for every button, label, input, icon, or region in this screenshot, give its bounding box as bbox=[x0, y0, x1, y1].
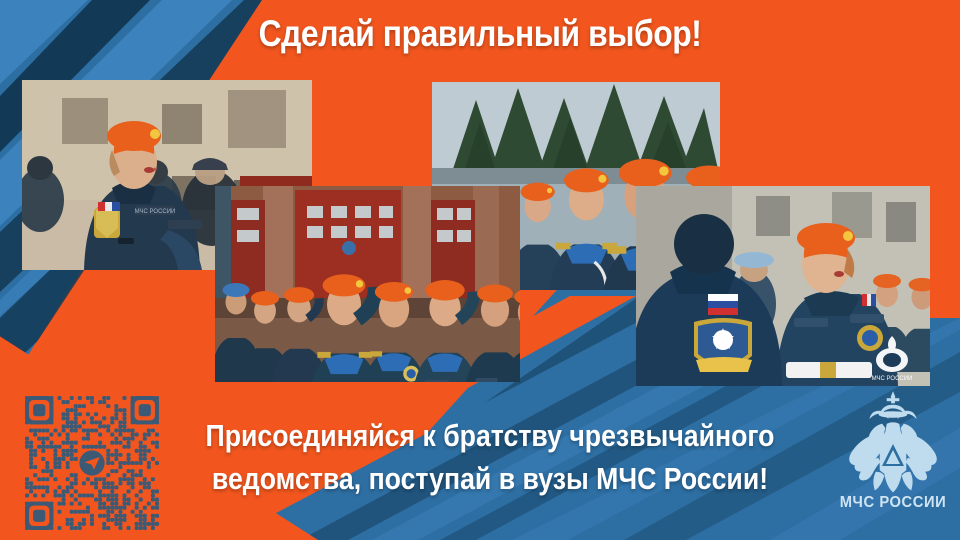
svg-text:МЧС РОССИИ: МЧС РОССИИ bbox=[135, 209, 176, 215]
mchs-logo: МЧС РОССИИ bbox=[830, 388, 956, 534]
photo-officer-and-cadet: МЧС РОССИИ bbox=[636, 186, 930, 386]
page-title: Сделай правильный выбор! bbox=[67, 14, 893, 54]
mchs-eagle-emblem bbox=[830, 388, 956, 496]
tagline-line-1: Присоединяйся к братству чрезвычайного bbox=[198, 414, 783, 457]
tagline: Присоединяйся к братству чрезвычайного в… bbox=[198, 414, 783, 500]
mchs-logo-label: МЧС РОССИИ bbox=[833, 494, 953, 512]
telegram-qr-code[interactable] bbox=[25, 396, 159, 530]
photo-cadets-saluting bbox=[215, 186, 520, 382]
tagline-line-2: ведомства, поступай в вузы МЧС России! bbox=[198, 457, 783, 500]
svg-text:МЧС РОССИИ: МЧС РОССИИ bbox=[872, 376, 913, 382]
poster-canvas: МЧС РОССИИ bbox=[0, 0, 960, 540]
qr-canvas[interactable] bbox=[25, 396, 159, 530]
